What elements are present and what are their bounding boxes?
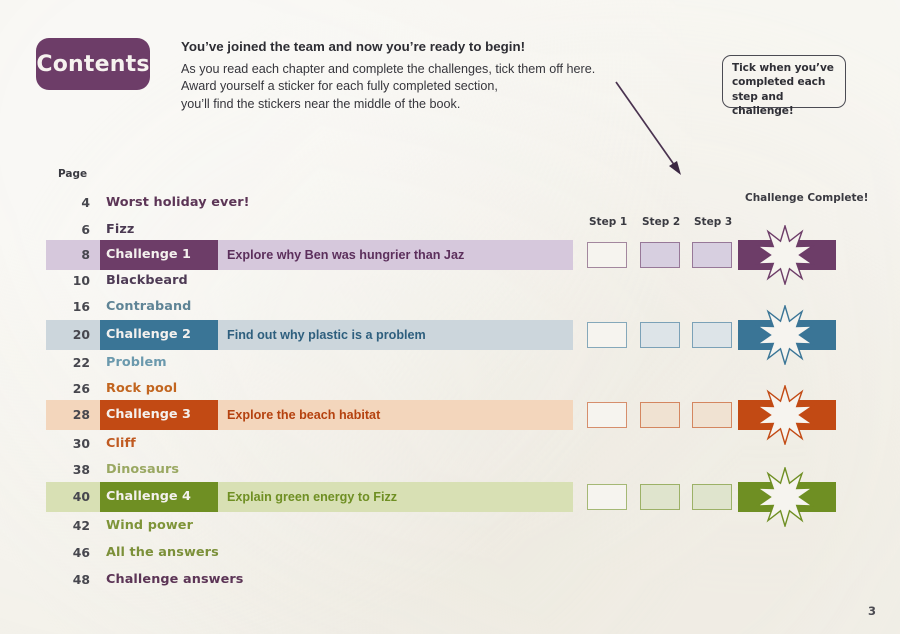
row-title: Challenge 4 <box>106 482 191 512</box>
step-3-checkbox[interactable] <box>692 402 732 428</box>
intro-line-2: Award yourself a sticker for each fully … <box>181 78 611 95</box>
row-page-number: 16 <box>56 292 90 322</box>
step-2-checkbox[interactable] <box>640 242 680 268</box>
row-page-number: 46 <box>56 538 90 568</box>
table-row: 48Challenge answers <box>0 565 900 595</box>
challenge-complete-sticker[interactable] <box>738 482 836 512</box>
callout-arrow-icon <box>595 70 705 190</box>
row-title: Challenge 2 <box>106 320 191 350</box>
step-3-checkbox[interactable] <box>692 322 732 348</box>
row-page-number: 42 <box>56 511 90 541</box>
step-1-checkbox[interactable] <box>587 322 627 348</box>
step-2-checkbox[interactable] <box>640 322 680 348</box>
intro-line-3: you’ll find the stickers near the middle… <box>181 96 611 113</box>
table-row: 40Challenge 4Explain green energy to Fiz… <box>0 482 900 512</box>
row-page-number: 4 <box>56 188 90 218</box>
callout-line-3: step and challenge! <box>732 90 837 119</box>
step-1-checkbox[interactable] <box>587 484 627 510</box>
row-title: All the answers <box>106 538 219 568</box>
intro-line-1: As you read each chapter and complete th… <box>181 61 611 78</box>
challenge-description: Explain green energy to Fizz <box>227 482 397 512</box>
challenge-description: Find out why plastic is a problem <box>227 320 426 350</box>
row-title: Contraband <box>106 292 191 322</box>
step-3-checkbox[interactable] <box>692 484 732 510</box>
contents-page: Contents You’ve joined the team and now … <box>0 0 900 634</box>
table-row: 4Worst holiday ever! <box>0 188 900 218</box>
callout-line-2: completed each <box>732 75 837 89</box>
contents-badge-label: Contents <box>36 52 149 77</box>
challenge-complete-sticker[interactable] <box>738 320 836 350</box>
row-page-number: 38 <box>56 455 90 485</box>
row-title: Challenge 3 <box>106 400 191 430</box>
row-page-number: 48 <box>56 565 90 595</box>
step-1-checkbox[interactable] <box>587 402 627 428</box>
step-1-checkbox[interactable] <box>587 242 627 268</box>
table-row: 42Wind power <box>0 511 900 541</box>
step-2-checkbox[interactable] <box>640 484 680 510</box>
row-title: Worst holiday ever! <box>106 188 250 218</box>
callout-line-1: Tick when you’ve <box>732 61 837 75</box>
table-row: 46All the answers <box>0 538 900 568</box>
contents-badge: Contents <box>36 38 150 90</box>
row-title: Wind power <box>106 511 193 541</box>
row-page-number: 20 <box>56 320 90 350</box>
row-page-number: 40 <box>56 482 90 512</box>
page-folio: 3 <box>868 604 876 618</box>
tick-callout-box: Tick when you’ve completed each step and… <box>722 55 846 108</box>
row-title: Challenge answers <box>106 565 244 595</box>
challenge-complete-sticker[interactable] <box>738 400 836 430</box>
step-2-checkbox[interactable] <box>640 402 680 428</box>
intro-headline: You’ve joined the team and now you’re re… <box>181 38 611 56</box>
row-page-number: 28 <box>56 400 90 430</box>
challenge-description: Explore the beach habitat <box>227 400 380 430</box>
row-title: Dinosaurs <box>106 455 179 485</box>
intro-block: You’ve joined the team and now you’re re… <box>181 38 611 113</box>
table-row: 20Challenge 2Find out why plastic is a p… <box>0 320 900 350</box>
table-row: 28Challenge 3Explore the beach habitat <box>0 400 900 430</box>
step-3-checkbox[interactable] <box>692 242 732 268</box>
page-column-header: Page <box>58 168 87 180</box>
